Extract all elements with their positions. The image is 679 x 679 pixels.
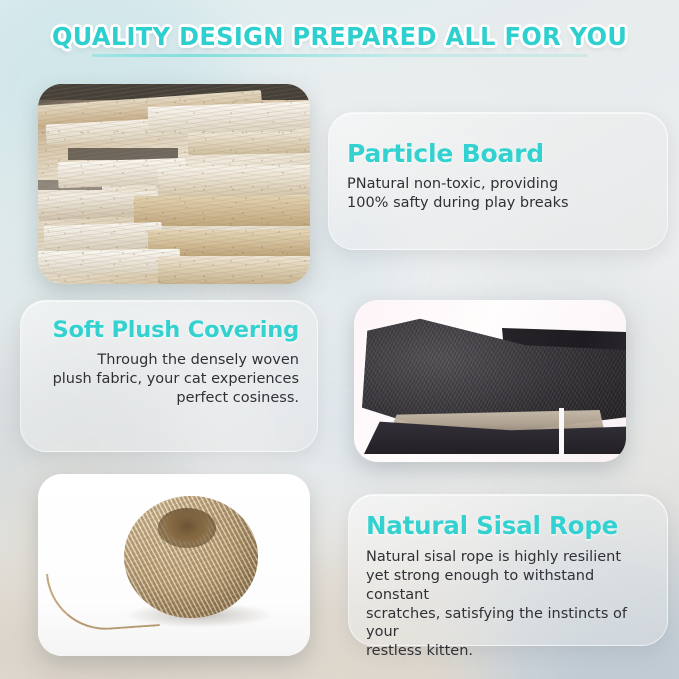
header: QUALITY DESIGN PREPARED ALL FOR YOU — [0, 22, 679, 57]
sisal-rope-photo — [38, 474, 310, 656]
feature-card-particle-board: Particle Board PNatural non-toxic, provi… — [328, 112, 668, 250]
feature-description-natural-sisal-rope: Natural sisal rope is highly resilient y… — [366, 548, 657, 661]
feature-description-line: scratches, satisfying the instincts of y… — [366, 605, 657, 643]
rope-ball-center-hole — [158, 508, 216, 548]
feature-description-soft-plush-covering: Through the densely woven plush fabric, … — [21, 351, 299, 408]
feature-title-natural-sisal-rope: Natural Sisal Rope — [366, 511, 667, 540]
feature-description-line: perfect cosiness. — [21, 389, 299, 408]
feature-description-line: 100% safty during play breaks — [347, 194, 667, 213]
feature-description-particle-board: PNatural non-toxic, providing 100% safty… — [347, 175, 667, 213]
particle-board-photo — [38, 84, 310, 284]
rope-ball — [124, 496, 258, 618]
feature-card-natural-sisal-rope: Natural Sisal Rope Natural sisal rope is… — [348, 494, 668, 646]
feature-title-soft-plush-covering: Soft Plush Covering — [21, 317, 299, 343]
title-underline — [92, 54, 588, 57]
plush-photo-base — [354, 300, 626, 462]
feature-description-line: Through the densely woven — [21, 351, 299, 370]
particle-board-photo-base — [38, 84, 310, 284]
feature-description-line: yet strong enough to withstand constant — [366, 567, 657, 605]
plush-fabric-photo — [354, 300, 626, 462]
feature-description-line: restless kitten. — [366, 642, 657, 661]
feature-card-soft-plush-covering: Soft Plush Covering Through the densely … — [20, 300, 318, 452]
product-feature-infographic: QUALITY DESIGN PREPARED ALL FOR YOU Part… — [0, 0, 679, 679]
feature-description-line: PNatural non-toxic, providing — [347, 175, 667, 194]
feature-description-line: plush fabric, your cat experiences — [21, 370, 299, 389]
feature-title-particle-board: Particle Board — [347, 139, 667, 168]
sisal-photo-base — [38, 474, 310, 656]
page-title: QUALITY DESIGN PREPARED ALL FOR YOU — [52, 22, 627, 51]
feature-description-line: Natural sisal rope is highly resilient — [366, 548, 657, 567]
plush-highlight-line — [559, 408, 564, 456]
board-chip-speckle — [38, 84, 310, 284]
